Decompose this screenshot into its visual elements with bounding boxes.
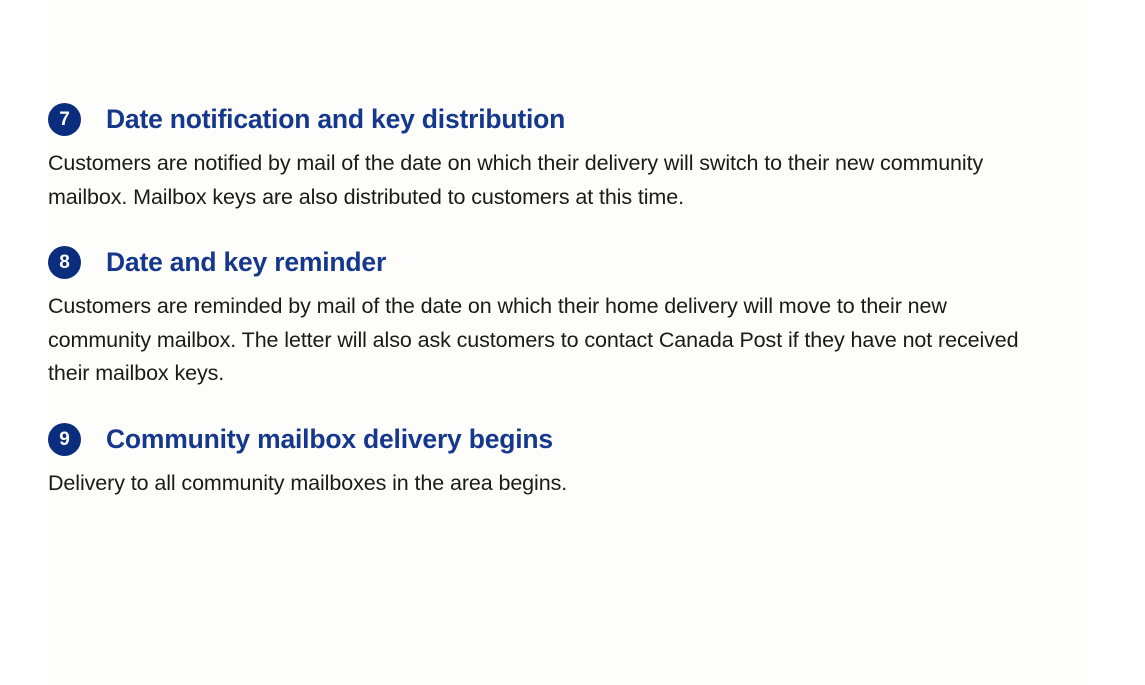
step-number-badge-9: 9 — [48, 423, 81, 456]
step-spacer — [0, 214, 1145, 246]
step-body-7: Customers are notified by mail of the da… — [48, 147, 1048, 214]
step-item-7: 7 Date notification and key distribution… — [0, 103, 1145, 214]
step-header-8: 8 Date and key reminder — [48, 246, 1087, 279]
step-body-9: Delivery to all community mailboxes in t… — [48, 467, 1048, 501]
step-header-9: 9 Community mailbox delivery begins — [48, 423, 1087, 456]
step-spacer — [0, 391, 1145, 423]
step-title-7: Date notification and key distribution — [106, 104, 565, 134]
step-body-8: Customers are reminded by mail of the da… — [48, 290, 1048, 391]
step-item-8: 8 Date and key reminder Customers are re… — [0, 246, 1145, 391]
steps-list: 7 Date notification and key distribution… — [0, 0, 1145, 500]
step-item-9: 9 Community mailbox delivery begins Deli… — [0, 423, 1145, 501]
step-title-9: Community mailbox delivery begins — [106, 424, 553, 454]
step-number-badge-7: 7 — [48, 103, 81, 136]
step-number-badge-8: 8 — [48, 246, 81, 279]
step-title-8: Date and key reminder — [106, 247, 386, 277]
step-header-7: 7 Date notification and key distribution — [48, 103, 1087, 136]
